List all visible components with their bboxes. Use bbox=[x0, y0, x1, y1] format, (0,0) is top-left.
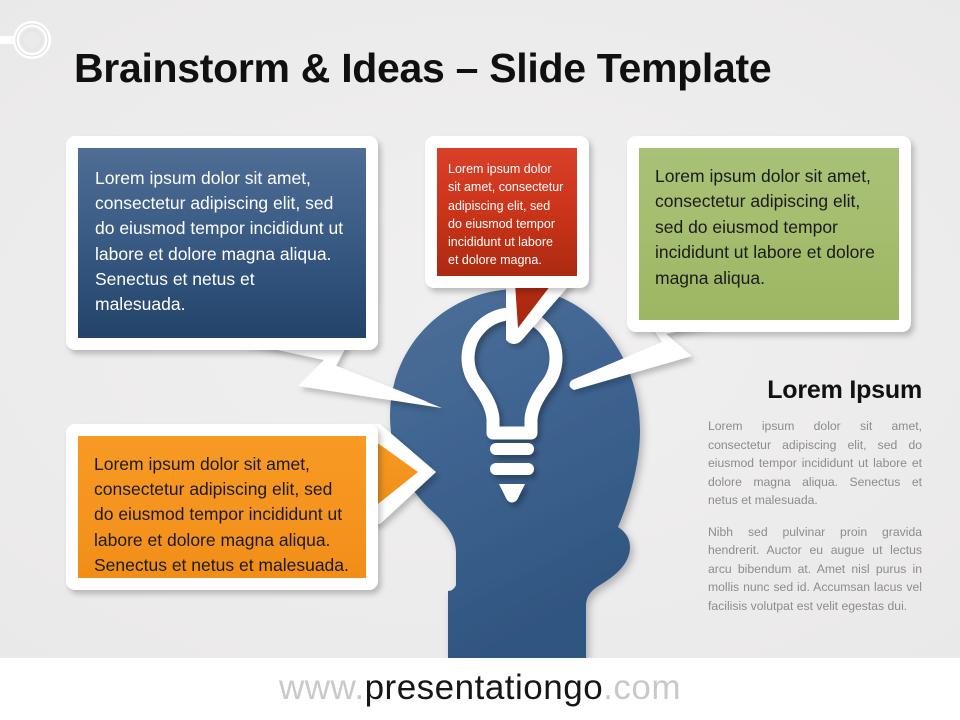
page-title: Brainstorm & Ideas – Slide Template bbox=[74, 43, 774, 93]
callout-orange-inner: Lorem ipsum dolor sit amet, consectetur … bbox=[78, 436, 366, 578]
callout-blue-inner: Lorem ipsum dolor sit amet, consectetur … bbox=[78, 148, 366, 338]
side-panel-heading: Lorem Ipsum bbox=[708, 376, 922, 405]
side-panel-paragraph-2: Nibh sed pulvinar proin gravida hendreri… bbox=[708, 523, 922, 616]
callout-box-red[interactable]: Lorem ipsum dolor sit amet, consectetur … bbox=[425, 136, 589, 288]
callout-box-orange[interactable]: Lorem ipsum dolor sit amet, consectetur … bbox=[66, 424, 378, 590]
slide-canvas: Brainstorm & Ideas – Slide Template bbox=[0, 0, 960, 720]
callout-red-inner: Lorem ipsum dolor sit amet, consectetur … bbox=[437, 148, 577, 276]
side-text-panel: Lorem Ipsum Lorem ipsum dolor sit amet, … bbox=[708, 376, 922, 615]
callout-green-inner: Lorem ipsum dolor sit amet, consectetur … bbox=[639, 148, 899, 320]
callout-red-text: Lorem ipsum dolor sit amet, consectetur … bbox=[448, 160, 566, 270]
footer-url-prefix: www. bbox=[279, 668, 365, 707]
callout-green-text: Lorem ipsum dolor sit amet, consectetur … bbox=[655, 164, 883, 291]
callout-blue-text: Lorem ipsum dolor sit amet, consectetur … bbox=[95, 166, 349, 317]
callout-orange-text: Lorem ipsum dolor sit amet, consectetur … bbox=[94, 452, 350, 578]
callout-box-green[interactable]: Lorem ipsum dolor sit amet, consectetur … bbox=[627, 136, 911, 332]
footer-url-suffix: .com bbox=[603, 668, 681, 707]
side-panel-paragraph-1: Lorem ipsum dolor sit amet, consectetur … bbox=[708, 417, 922, 510]
footer-url[interactable]: www.presentationgo.com bbox=[0, 668, 960, 708]
footer-url-name: presentationgo bbox=[365, 668, 604, 707]
callout-box-blue[interactable]: Lorem ipsum dolor sit amet, consectetur … bbox=[66, 136, 378, 350]
ring-ornament-icon bbox=[0, 17, 58, 63]
